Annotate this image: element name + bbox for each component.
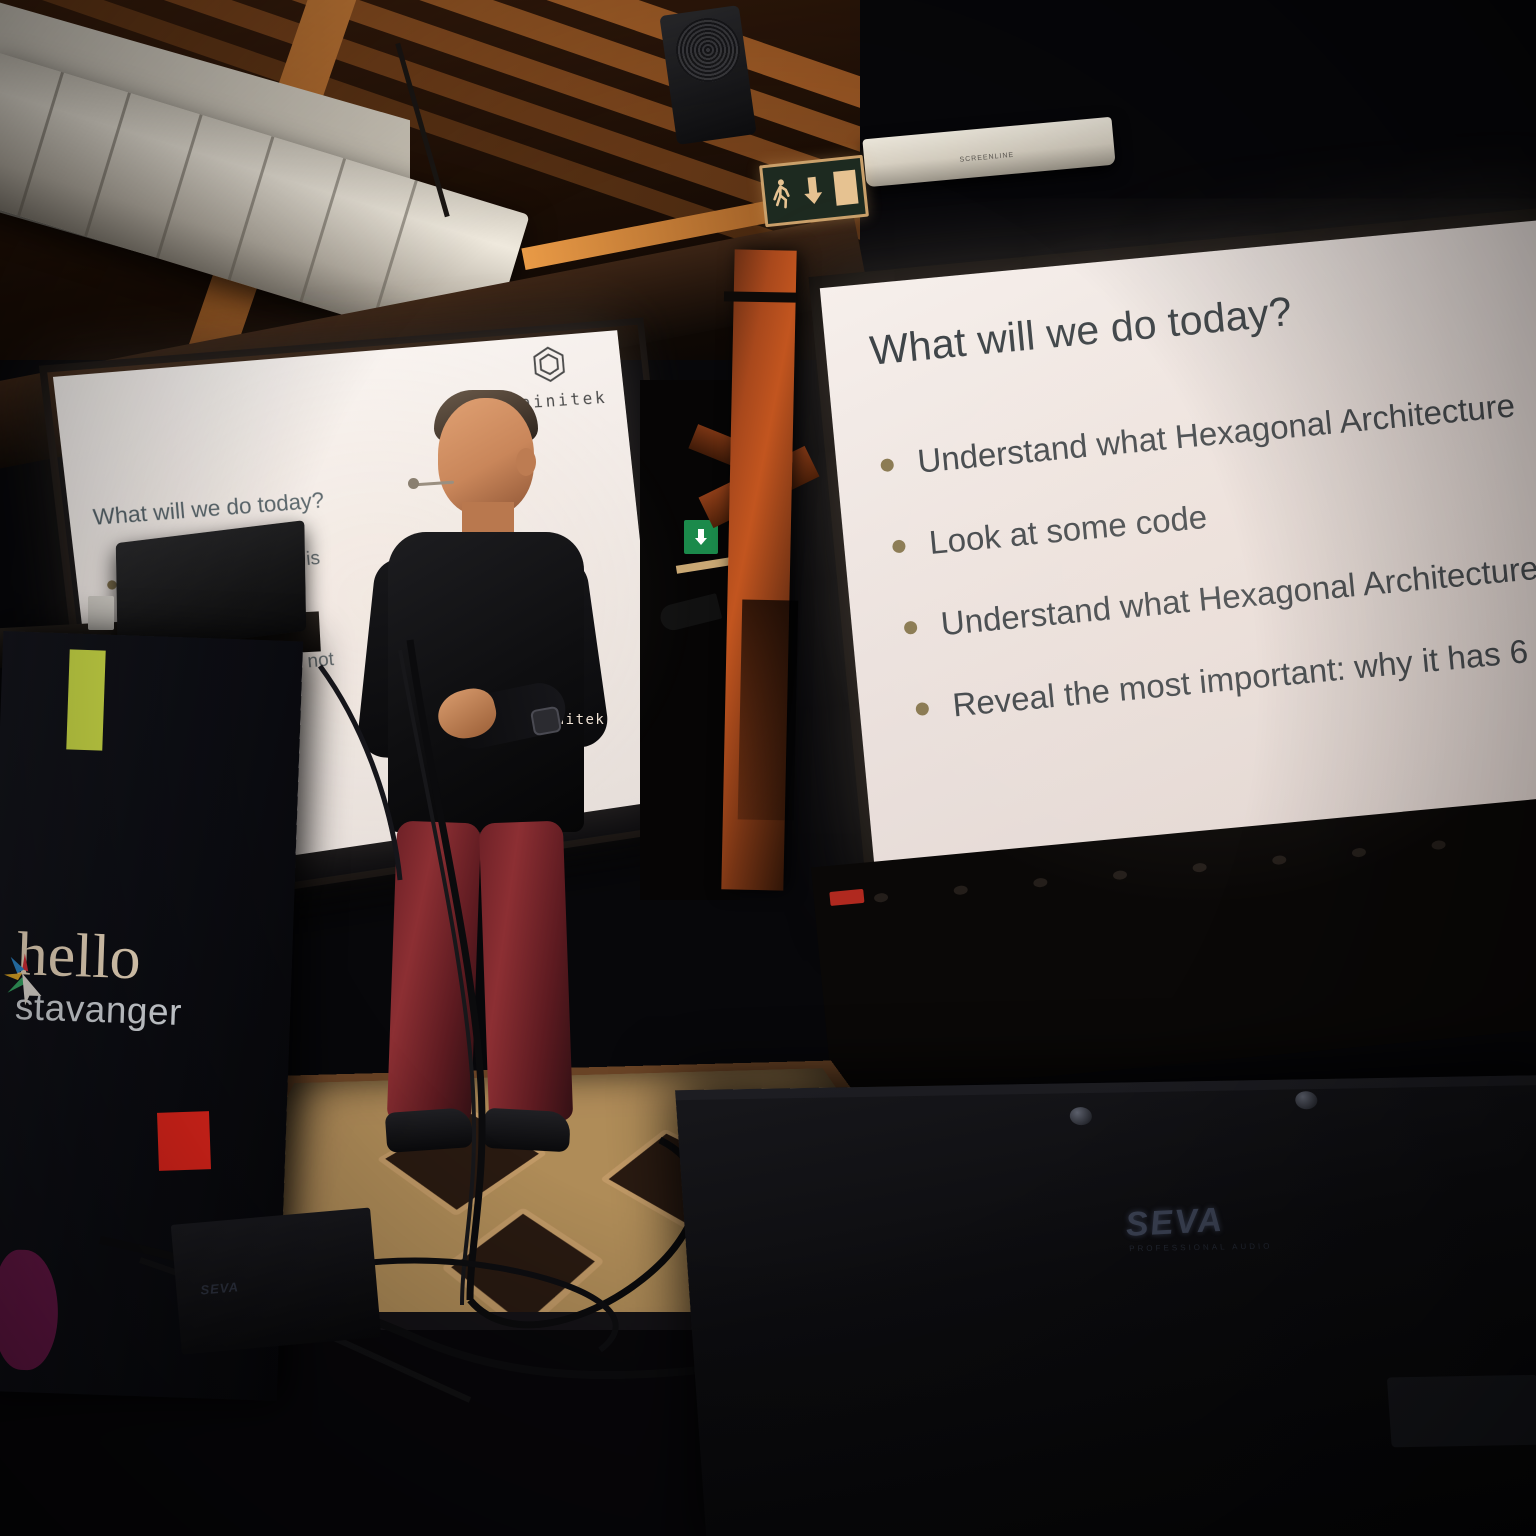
- seva-brand-sub: PROFESSIONAL AUDIO: [1129, 1242, 1273, 1253]
- torso-tshirt: trainitek: [388, 532, 584, 832]
- floor-monitor-brand: SEVA: [200, 1279, 240, 1297]
- legs: [392, 822, 578, 1152]
- exit-door-icon: [833, 170, 858, 206]
- hello-stavanger-logo: hello stavanger: [14, 925, 184, 1034]
- laptop: [116, 520, 307, 654]
- speaker-grille-icon: [676, 18, 740, 82]
- cup: [88, 596, 114, 630]
- exit-sign: [759, 155, 869, 228]
- running-man-icon: [769, 178, 792, 212]
- projector-screen-roller: SCREENLINE: [862, 117, 1115, 187]
- presentation-scene: SCREENLINE trainitek What will we do tod…: [0, 0, 1536, 1536]
- right-leg: [479, 821, 573, 1124]
- right-shoe: [483, 1108, 571, 1152]
- seva-brand-label: SEVA: [1124, 1201, 1226, 1245]
- yellow-marker: [66, 649, 105, 750]
- down-arrow-icon: [800, 174, 825, 208]
- roller-brand-label: SCREENLINE: [959, 152, 1014, 164]
- left-leg: [387, 821, 481, 1124]
- ear: [516, 448, 536, 476]
- sparkle-cursor-icon: [1, 949, 49, 1009]
- foreground-stage-monitor: SEVA PROFESSIONAL AUDIO: [675, 1075, 1536, 1536]
- wristwatch: [530, 706, 562, 736]
- green-down-arrow-icon: [692, 528, 710, 546]
- red-marker: [829, 889, 864, 906]
- post-bracket: [724, 291, 796, 302]
- microphone-capsule-icon: [408, 478, 419, 489]
- red-marker: [157, 1111, 211, 1171]
- monitor-connector-panel: [1387, 1375, 1536, 1447]
- floor-monitor: SEVA: [171, 1208, 382, 1355]
- speaker-person: trainitek: [330, 390, 630, 1200]
- post-shadow: [738, 599, 799, 820]
- left-shoe: [385, 1107, 474, 1153]
